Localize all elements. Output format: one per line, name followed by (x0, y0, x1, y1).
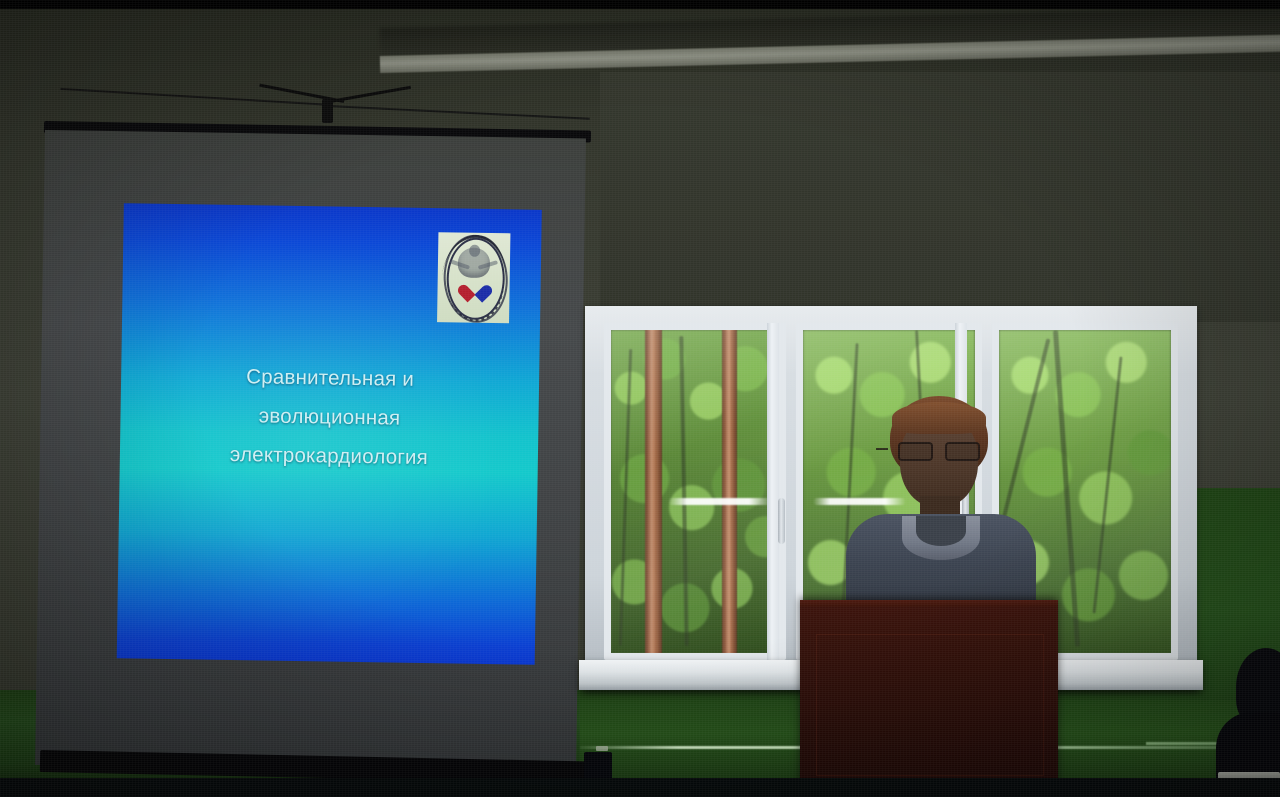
slide-title: Сравнительная и эволюционная электрокард… (120, 355, 540, 479)
presenter-collar-inner (916, 516, 966, 546)
presenter-fringe (892, 402, 986, 434)
glasses-icon (898, 442, 980, 457)
foreground-object-highlight (596, 746, 608, 751)
glass-sheen (611, 330, 779, 653)
window-mullion-left (767, 323, 779, 660)
slide-title-line-1: Сравнительная и (121, 355, 540, 401)
podium-top-edge (800, 600, 1058, 607)
institute-emblem-icon (437, 232, 510, 323)
screen-hanger-knob (322, 99, 333, 123)
window-handle-icon[interactable] (778, 498, 785, 544)
frame-top-letterbox (0, 0, 1280, 9)
window-pane-left (604, 323, 786, 660)
slide-title-line-3: электрокардиология (120, 433, 539, 479)
emblem-heart-icon (464, 278, 485, 300)
wall-shading (600, 72, 1280, 322)
projection-screen: Сравнительная и эволюционная электрокард… (35, 130, 586, 773)
floor (0, 778, 1280, 797)
podium-front-panel (816, 634, 1044, 776)
lecture-hall-photo: Сравнительная и эволюционная электрокард… (0, 0, 1280, 797)
slide-title-line-2: эволюционная (120, 394, 539, 440)
presentation-slide: Сравнительная и эволюционная электрокард… (117, 203, 542, 665)
podium (800, 600, 1058, 797)
glasses-bridge (876, 448, 888, 450)
